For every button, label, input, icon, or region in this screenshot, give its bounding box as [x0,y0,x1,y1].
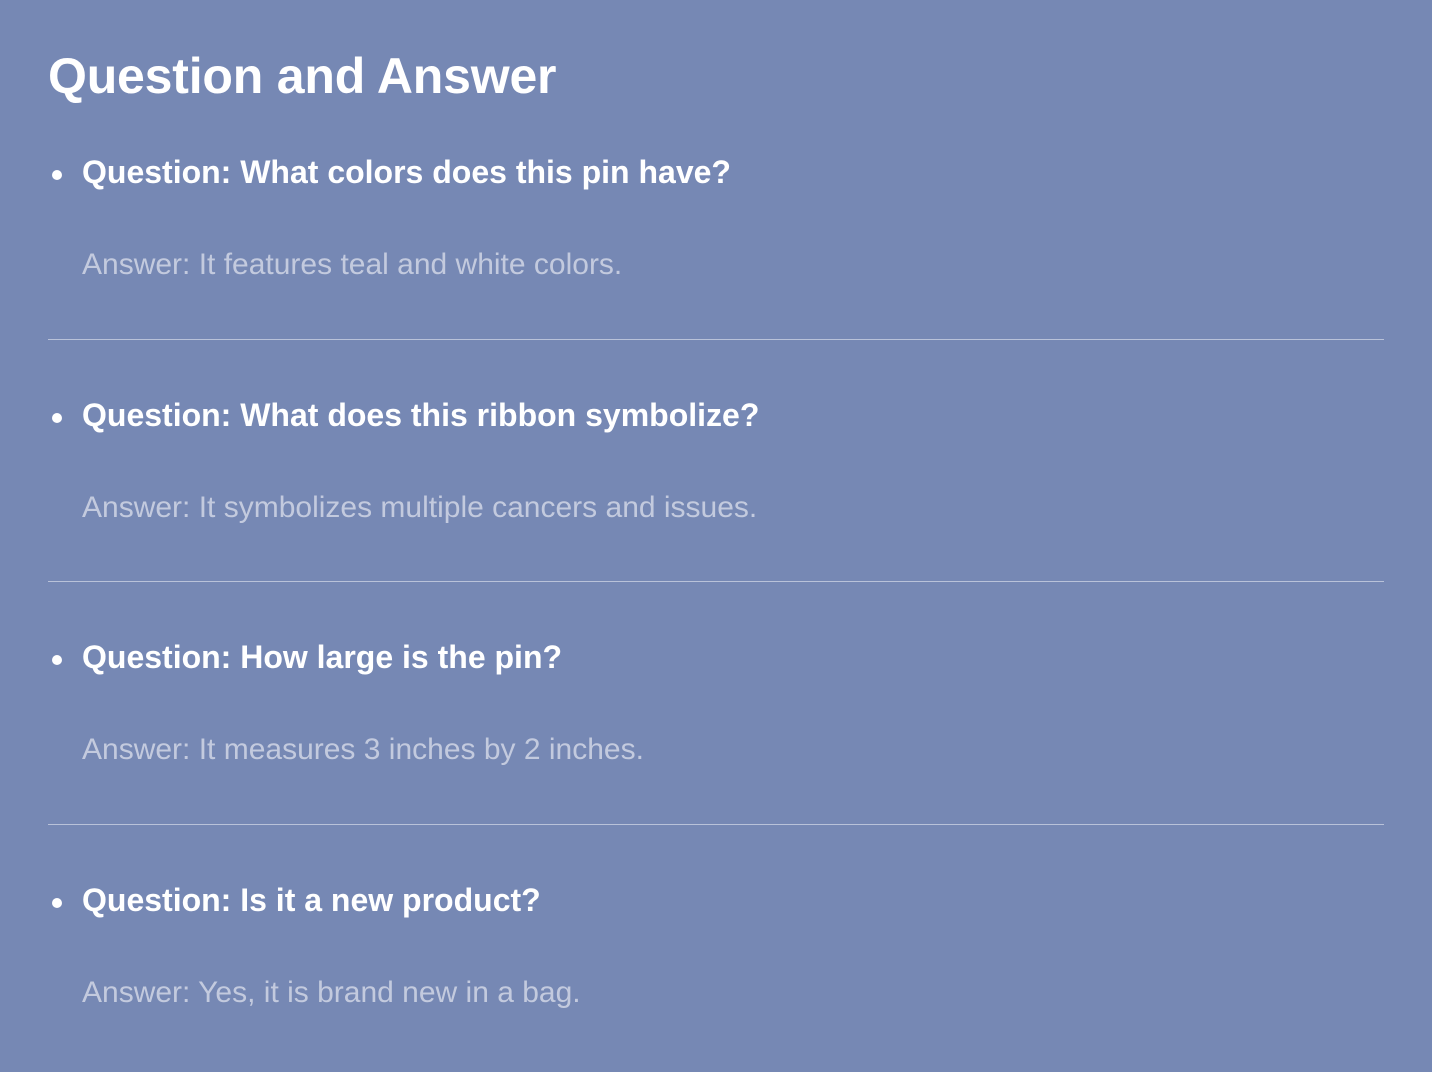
qa-answer-text: Answer: It symbolizes multiple cancers a… [48,435,1384,527]
bullet-dot-icon [52,655,62,665]
qa-item: Question: What colors does this pin have… [48,152,1384,340]
qa-divider [48,824,1384,825]
qa-question: Question: What colors does this pin have… [48,152,1384,192]
qa-question: Question: How large is the pin? [48,637,1384,677]
qa-item: Question: Is it a new product? Answer: Y… [48,880,1384,1012]
qa-answer-text: Answer: It features teal and white color… [48,192,1384,284]
qa-question-text: Question: What does this ribbon symboliz… [82,397,759,433]
qa-divider [48,339,1384,340]
bullet-dot-icon [52,898,62,908]
qa-item: Question: How large is the pin? Answer: … [48,637,1384,825]
qa-answer-text: Answer: Yes, it is brand new in a bag. [48,920,1384,1012]
page-title: Question and Answer [48,0,1384,104]
qa-question-text: Question: What colors does this pin have… [82,154,731,190]
bullet-dot-icon [52,413,62,423]
qa-item: Question: What does this ribbon symboliz… [48,395,1384,583]
qa-question: Question: Is it a new product? [48,880,1384,920]
qa-list: Question: What colors does this pin have… [48,152,1384,1011]
bullet-dot-icon [52,170,62,180]
qa-question-text: Question: How large is the pin? [82,639,562,675]
qa-divider [48,581,1384,582]
qa-question: Question: What does this ribbon symboliz… [48,395,1384,435]
qa-answer-text: Answer: It measures 3 inches by 2 inches… [48,677,1384,769]
qa-question-text: Question: Is it a new product? [82,882,541,918]
qa-panel: Question and Answer Question: What color… [0,0,1432,1072]
